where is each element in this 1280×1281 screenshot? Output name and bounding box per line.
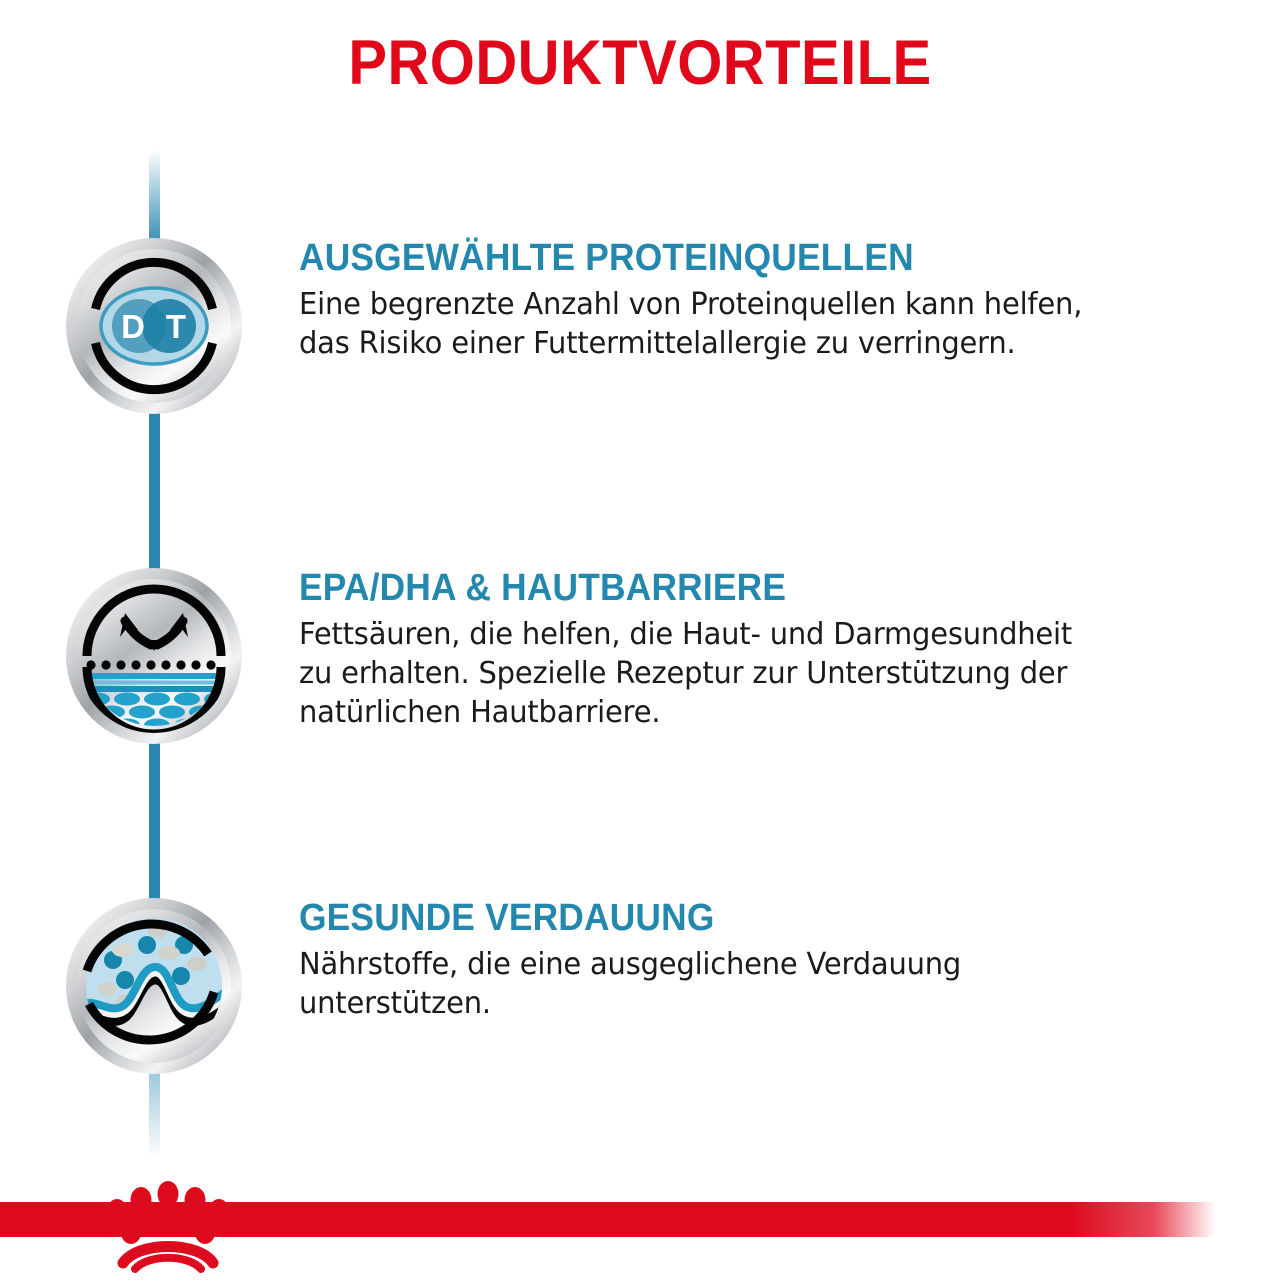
body-line: Nährstoffe, die eine ausgeglichene Verda… bbox=[299, 945, 1206, 984]
benefit-text-2: EPA/DHA & HAUTBARRIERE Fettsäuren, die h… bbox=[299, 568, 1239, 732]
body-line: Fettsäuren, die helfen, die Haut- und Da… bbox=[299, 615, 1206, 654]
healthy-digestion-glyph bbox=[77, 909, 231, 1063]
body-line: Eine begrenzte Anzahl von Proteinquellen… bbox=[299, 285, 1206, 324]
body-line: unterstützen. bbox=[299, 984, 1206, 1023]
healthy-digestion-icon bbox=[66, 898, 242, 1074]
benefit-heading-2: EPA/DHA & HAUTBARRIERE bbox=[299, 568, 1173, 609]
svg-text:D: D bbox=[121, 308, 145, 345]
svg-text:T: T bbox=[166, 308, 186, 345]
benefit-body-3: Nährstoffe, die eine ausgeglichene Verda… bbox=[299, 945, 1206, 1023]
protein-sources-glyph: D T bbox=[77, 249, 231, 403]
benefit-body-2: Fettsäuren, die helfen, die Haut- und Da… bbox=[299, 615, 1206, 732]
benefit-heading-1: AUSGEWÄHLTE PROTEINQUELLEN bbox=[299, 238, 1173, 279]
benefit-heading-3: GESUNDE VERDAUUNG bbox=[299, 898, 1173, 939]
benefit-text-3: GESUNDE VERDAUUNG Nährstoffe, die eine a… bbox=[299, 898, 1239, 1023]
benefit-body-1: Eine begrenzte Anzahl von Proteinquellen… bbox=[299, 285, 1206, 363]
benefit-text-1: AUSGEWÄHLTE PROTEINQUELLEN Eine begrenzt… bbox=[299, 238, 1239, 363]
selected-protein-sources-icon: D T bbox=[66, 238, 242, 414]
royal-canin-crown-logo bbox=[93, 1168, 243, 1276]
badge-inner-face bbox=[77, 909, 231, 1063]
badge-inner-face: D T bbox=[77, 249, 231, 403]
badge-inner-face bbox=[77, 579, 231, 733]
skin-barrier-icon bbox=[66, 568, 242, 744]
page-title: PRODUKTVORTEILE bbox=[51, 30, 1229, 96]
connector-line-top bbox=[149, 150, 160, 250]
skin-barrier-glyph bbox=[77, 579, 231, 733]
body-line: zu erhalten. Spezielle Rezeptur zur Unte… bbox=[299, 654, 1206, 693]
body-line: das Risiko einer Futtermittelallergie zu… bbox=[299, 324, 1206, 363]
crown-icon bbox=[93, 1168, 243, 1276]
body-line: natürlichen Hautbarriere. bbox=[299, 693, 1206, 732]
